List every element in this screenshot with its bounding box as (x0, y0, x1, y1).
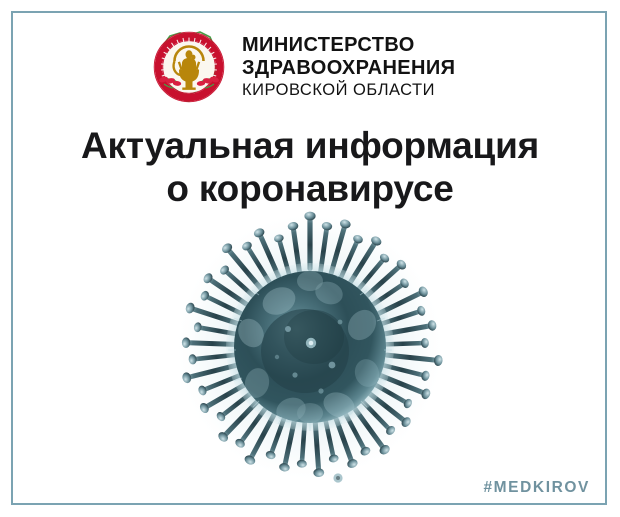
page-title: Актуальная информация о коронавирусе (0, 124, 620, 211)
ministry-name-line-2: ЗДРАВООХРАНЕНИЯ (242, 57, 455, 80)
ministry-name-block: МИНИСТЕРСТВО ЗДРАВООХРАНЕНИЯ КИРОВСКОЙ О… (242, 28, 455, 102)
coronavirus-particle-image (169, 205, 451, 487)
hashtag-medkirov: #MEDKIROV (483, 479, 590, 497)
ministry-name-line-3: КИРОВСКОЙ ОБЛАСТИ (242, 80, 455, 101)
poster-canvas: МИНИСТЕРСТВО ЗДРАВООХРАНЕНИЯ КИРОВСКОЙ О… (0, 0, 620, 517)
poster-header: МИНИСТЕРСТВО ЗДРАВООХРАНЕНИЯ КИРОВСКОЙ О… (150, 28, 455, 106)
ministry-of-health-kirov-emblem-icon (150, 28, 228, 106)
ministry-name-line-1: МИНИСТЕРСТВО (242, 34, 455, 57)
page-title-line-1: Актуальная информация (0, 124, 620, 167)
